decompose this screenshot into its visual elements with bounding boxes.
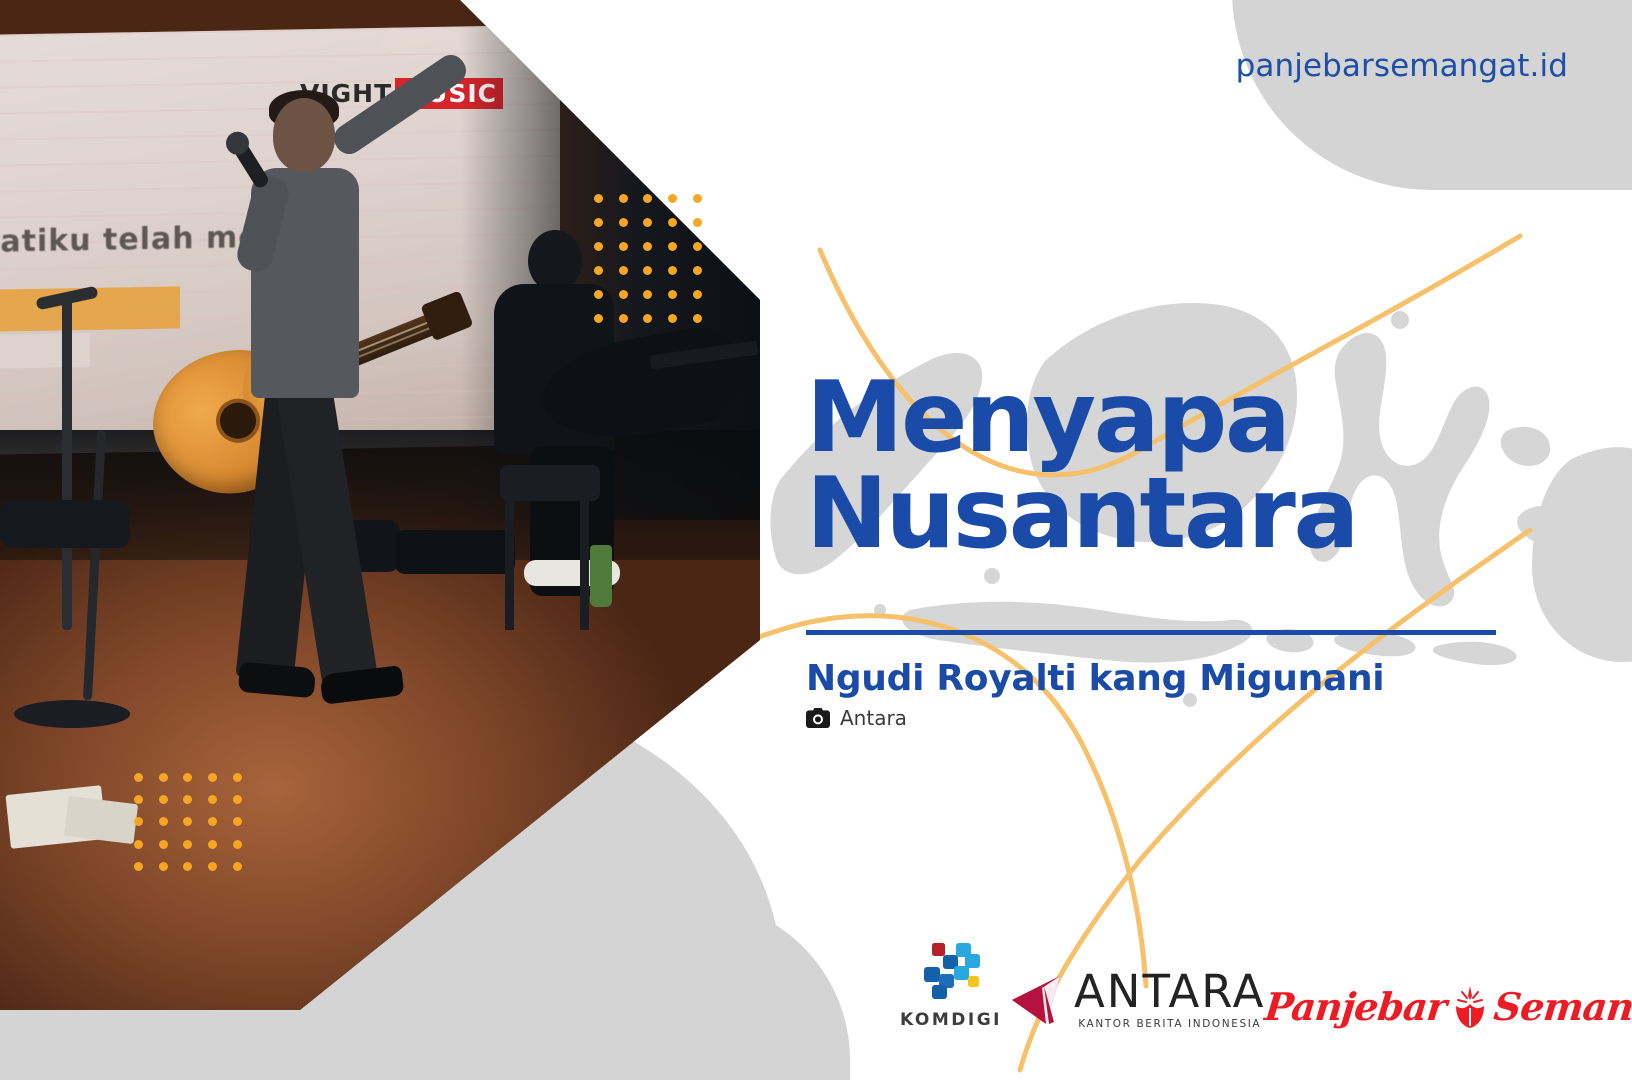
decor-dot: [594, 194, 603, 203]
panjebar-wordmark: Panjebar: [1263, 988, 1448, 1026]
decor-dot: [159, 817, 168, 826]
decor-dot: [159, 862, 168, 871]
decor-dot-grid-top: [586, 186, 710, 330]
drink-bottle: [590, 545, 612, 607]
site-url[interactable]: panjebarsemangat.id: [1236, 48, 1568, 84]
logo-antara: ANTARA KANTOR BERITA INDONESIA: [1002, 968, 1265, 1030]
page-title: Menyapa Nusantara: [806, 370, 1506, 562]
decor-dot: [693, 266, 702, 275]
antara-tagline: KANTOR BERITA INDONESIA: [1074, 1018, 1265, 1030]
panjebar-semangat-row: Panjebar Semangat: [1265, 984, 1632, 1030]
logo-panjebar-semangat: Panjebar Semangat: [1265, 984, 1632, 1030]
antara-triangle-icon: [1002, 968, 1064, 1030]
decor-dot: [183, 795, 192, 804]
decor-dot: [159, 773, 168, 782]
decor-dot: [134, 773, 143, 782]
logo-komdigi: KOMDIGI: [900, 941, 1002, 1030]
decor-blob-top-right: [1232, 0, 1632, 190]
decor-dot: [668, 194, 677, 203]
decor-dot: [668, 218, 677, 227]
decor-dot: [643, 266, 652, 275]
decor-dot: [594, 266, 603, 275]
poster-canvas: hatiku telah memilih VIGHT MUSIC: [0, 0, 1632, 1080]
decor-dot: [208, 817, 217, 826]
headline-line-2: Nusantara: [806, 466, 1506, 562]
panjebar-emblem-icon: [1450, 984, 1490, 1030]
decor-dot: [183, 773, 192, 782]
decor-dot: [643, 194, 652, 203]
decor-dot: [643, 242, 652, 251]
partner-logo-strip: KOMDIGI ANTARA KANTOR BERITA INDONESIA: [900, 920, 1560, 1030]
headline-line-1: Menyapa: [806, 370, 1506, 466]
decor-dot: [233, 795, 242, 804]
antara-wordmark: ANTARA: [1074, 969, 1265, 1014]
decor-dot: [594, 242, 603, 251]
decor-dot: [693, 314, 702, 323]
decor-dot: [233, 773, 242, 782]
decor-dot: [668, 314, 677, 323]
decor-dot: [134, 840, 143, 849]
mic-stand-left: [62, 300, 72, 630]
decor-dot: [159, 840, 168, 849]
antara-logo-row: ANTARA KANTOR BERITA INDONESIA: [1002, 968, 1265, 1030]
decor-dot: [134, 795, 143, 804]
decor-dot: [233, 862, 242, 871]
decor-dot: [619, 194, 628, 203]
decor-dot: [159, 795, 168, 804]
decor-dot: [619, 290, 628, 299]
page-subtitle: Ngudi Royalti kang Migunani: [806, 658, 1384, 699]
decor-dot: [619, 218, 628, 227]
decor-dot: [233, 817, 242, 826]
decor-dot: [668, 242, 677, 251]
decor-dot: [208, 795, 217, 804]
singer-silhouette: [225, 80, 525, 720]
photo-credit: Antara: [806, 706, 907, 730]
decor-dot: [594, 290, 603, 299]
screen-secondary-bar: [0, 333, 90, 369]
decor-dot: [693, 194, 702, 203]
semangat-wordmark: Semangat: [1492, 988, 1632, 1026]
decor-dot: [594, 314, 603, 323]
decor-dot: [183, 840, 192, 849]
decor-dot: [233, 840, 242, 849]
decor-dot: [208, 840, 217, 849]
decor-dot: [643, 314, 652, 323]
decor-dot-grid-bottom: [126, 766, 250, 878]
title-divider: [806, 630, 1496, 635]
stool-left: [0, 500, 130, 548]
camera-icon: [806, 708, 830, 728]
photo-credit-source: Antara: [840, 706, 907, 730]
decor-dot: [643, 290, 652, 299]
decor-dot: [134, 862, 143, 871]
decor-dot: [594, 218, 603, 227]
decor-dot: [643, 218, 652, 227]
decor-dot: [619, 242, 628, 251]
decor-dot: [208, 862, 217, 871]
decor-dot: [693, 218, 702, 227]
decor-dot: [668, 290, 677, 299]
decor-dot: [208, 773, 217, 782]
decor-dot: [693, 290, 702, 299]
antara-text-block: ANTARA KANTOR BERITA INDONESIA: [1074, 969, 1265, 1030]
decor-dot: [619, 314, 628, 323]
decor-dot: [619, 266, 628, 275]
mic-stand-base: [14, 700, 130, 728]
komdigi-wordmark: KOMDIGI: [900, 1010, 1002, 1030]
komdigi-icon: [915, 941, 987, 1003]
decor-dot: [134, 817, 143, 826]
decor-dot: [668, 266, 677, 275]
decor-dot: [183, 817, 192, 826]
decor-dot: [693, 242, 702, 251]
decor-dot: [183, 862, 192, 871]
